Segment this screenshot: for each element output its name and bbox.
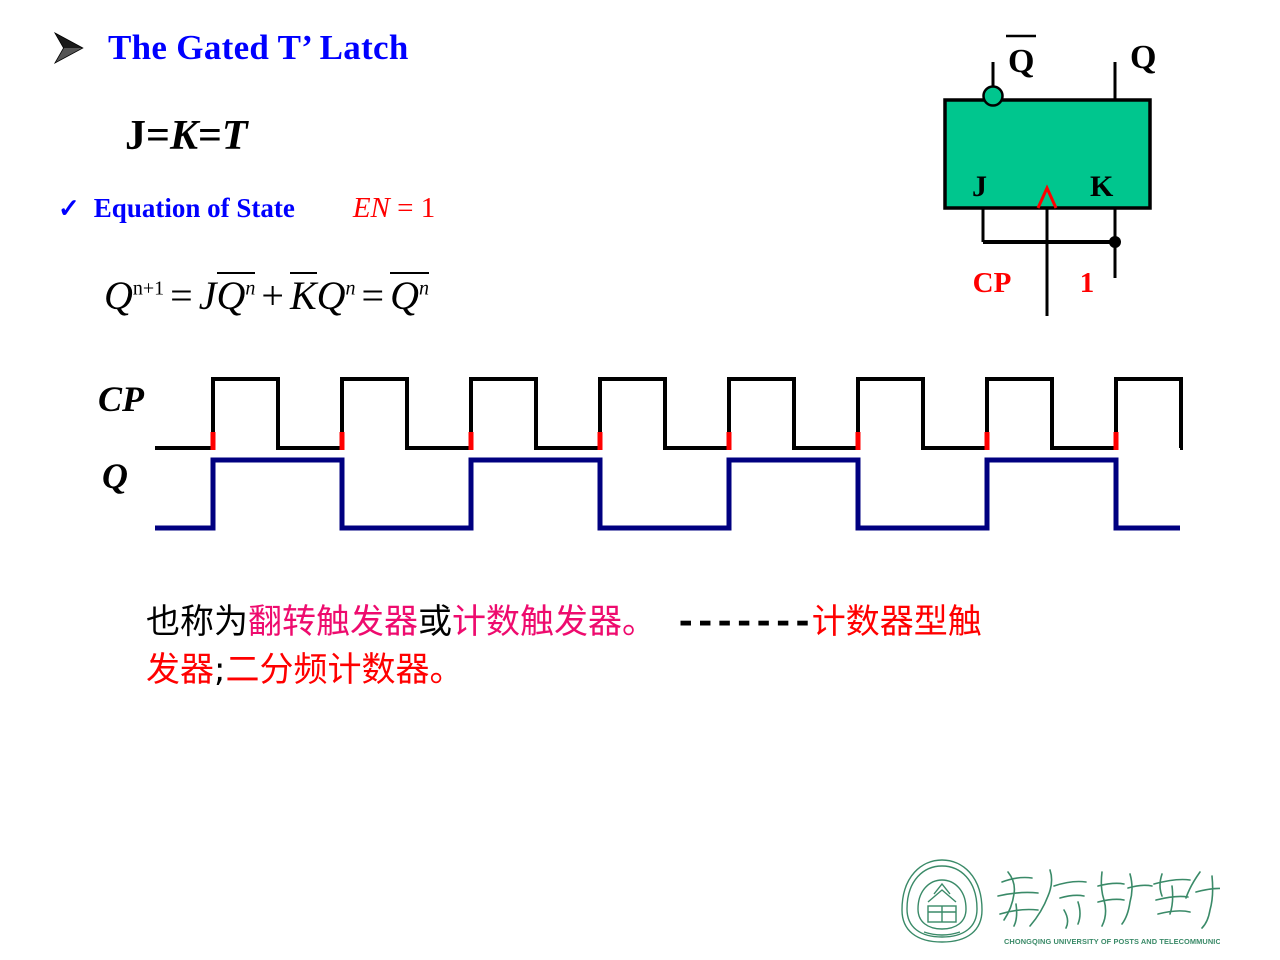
inversion-bubble-icon (984, 87, 1003, 106)
char-eq-lhs: Q (104, 273, 133, 318)
identity-eq2: = (198, 113, 222, 159)
summary-note-line-1: 也称为翻转触发器或计数触发器。 -------计数器型触 (146, 598, 1146, 646)
char-eq-qbar-group: Qn (217, 272, 256, 316)
char-eq-q2: Q (317, 273, 346, 318)
logo-shield-inner (907, 866, 977, 937)
char-eq-rhs: Q (390, 273, 419, 318)
identity-equation: J=K=T (125, 112, 248, 160)
identity-k: K (170, 113, 198, 159)
char-eq-kbar: K (290, 272, 317, 316)
char-eq-q2-sup: n (346, 278, 356, 300)
equation-of-state-row: ✓ Equation of State EN = 1 (58, 192, 435, 225)
note-segment: ; (214, 650, 225, 690)
flipflop-symbol: Q Q J K CP 1 (930, 20, 1190, 320)
page-title: The Gated T’ Latch (108, 28, 409, 68)
cp-terminal-label: CP (973, 267, 1012, 299)
note-segment: 计数触发器。 (452, 602, 656, 642)
logic-one-terminal-label: 1 (1080, 267, 1095, 299)
q-waveform-label: Q (102, 455, 128, 497)
identity-eq1: = (146, 113, 170, 159)
note-segment: ------- (656, 602, 812, 642)
slide-title-row: The Gated T’ Latch (52, 28, 409, 68)
summary-note: 也称为翻转触发器或计数触发器。 -------计数器型触 发器;二分频计数器。 (146, 598, 1146, 695)
enable-condition: EN = 1 (353, 192, 435, 225)
cp-waveform-path (155, 379, 1181, 448)
logo-book-lines (928, 906, 956, 922)
char-eq-j: J (199, 273, 217, 318)
check-mark-icon: ✓ (58, 196, 80, 222)
char-eq-equals-2: = (356, 273, 391, 318)
summary-note-line-2: 发器;二分频计数器。 (146, 646, 1146, 694)
char-eq-qbar: Q (217, 273, 246, 318)
char-eq-rhs-group: Qn (390, 272, 429, 316)
k-input-label: K (1090, 170, 1114, 203)
cp-waveform-label: CP (98, 378, 144, 420)
logo-english-name: CHONGQING UNIVERSITY OF POSTS AND TELECO… (1004, 937, 1220, 946)
logo-banner (924, 932, 960, 935)
char-eq-equals-1: = (164, 273, 199, 318)
note-segment: 也称为 (146, 602, 248, 642)
arrow-bullet-icon (52, 31, 86, 65)
identity-t: T (222, 113, 248, 159)
enable-condition-value: 1 (421, 192, 436, 224)
identity-j: J (125, 113, 146, 159)
characteristic-equation: Qn+1=JQn+KQn=Qn (104, 272, 429, 316)
timing-diagram: CP Q (80, 360, 1200, 550)
q-output-label: Q (1130, 39, 1156, 76)
q-waveform-path (155, 460, 1180, 528)
note-segment: 发器 (146, 650, 214, 690)
char-eq-rhs-sup: n (419, 278, 429, 300)
note-segment: 翻转触发器 (248, 602, 418, 642)
char-eq-lhs-sup: n+1 (133, 278, 164, 300)
logo-pagoda-top (928, 884, 956, 902)
chongqing-university-logo: CHONGQING UNIVERSITY OF POSTS AND TELECO… (890, 852, 1220, 952)
note-segment: 二分频计数器。 (225, 650, 463, 690)
note-segment: 计数器型触 (812, 602, 982, 642)
note-segment: 或 (418, 602, 452, 642)
enable-condition-en: EN (353, 192, 390, 224)
enable-condition-eq: = (397, 192, 413, 224)
char-eq-qbar-sup: n (245, 278, 255, 300)
junction-dot-icon (1109, 236, 1121, 248)
q-bar-output-label: Q (1008, 43, 1034, 80)
equation-of-state-label: Equation of State (94, 193, 295, 224)
waveform-canvas (80, 360, 1200, 550)
j-input-label: J (972, 170, 987, 203)
logo-shield-outer (902, 860, 982, 942)
slide-canvas: The Gated T’ Latch J=K=T ✓ Equation of S… (0, 0, 1280, 960)
char-eq-plus: + (255, 273, 290, 318)
